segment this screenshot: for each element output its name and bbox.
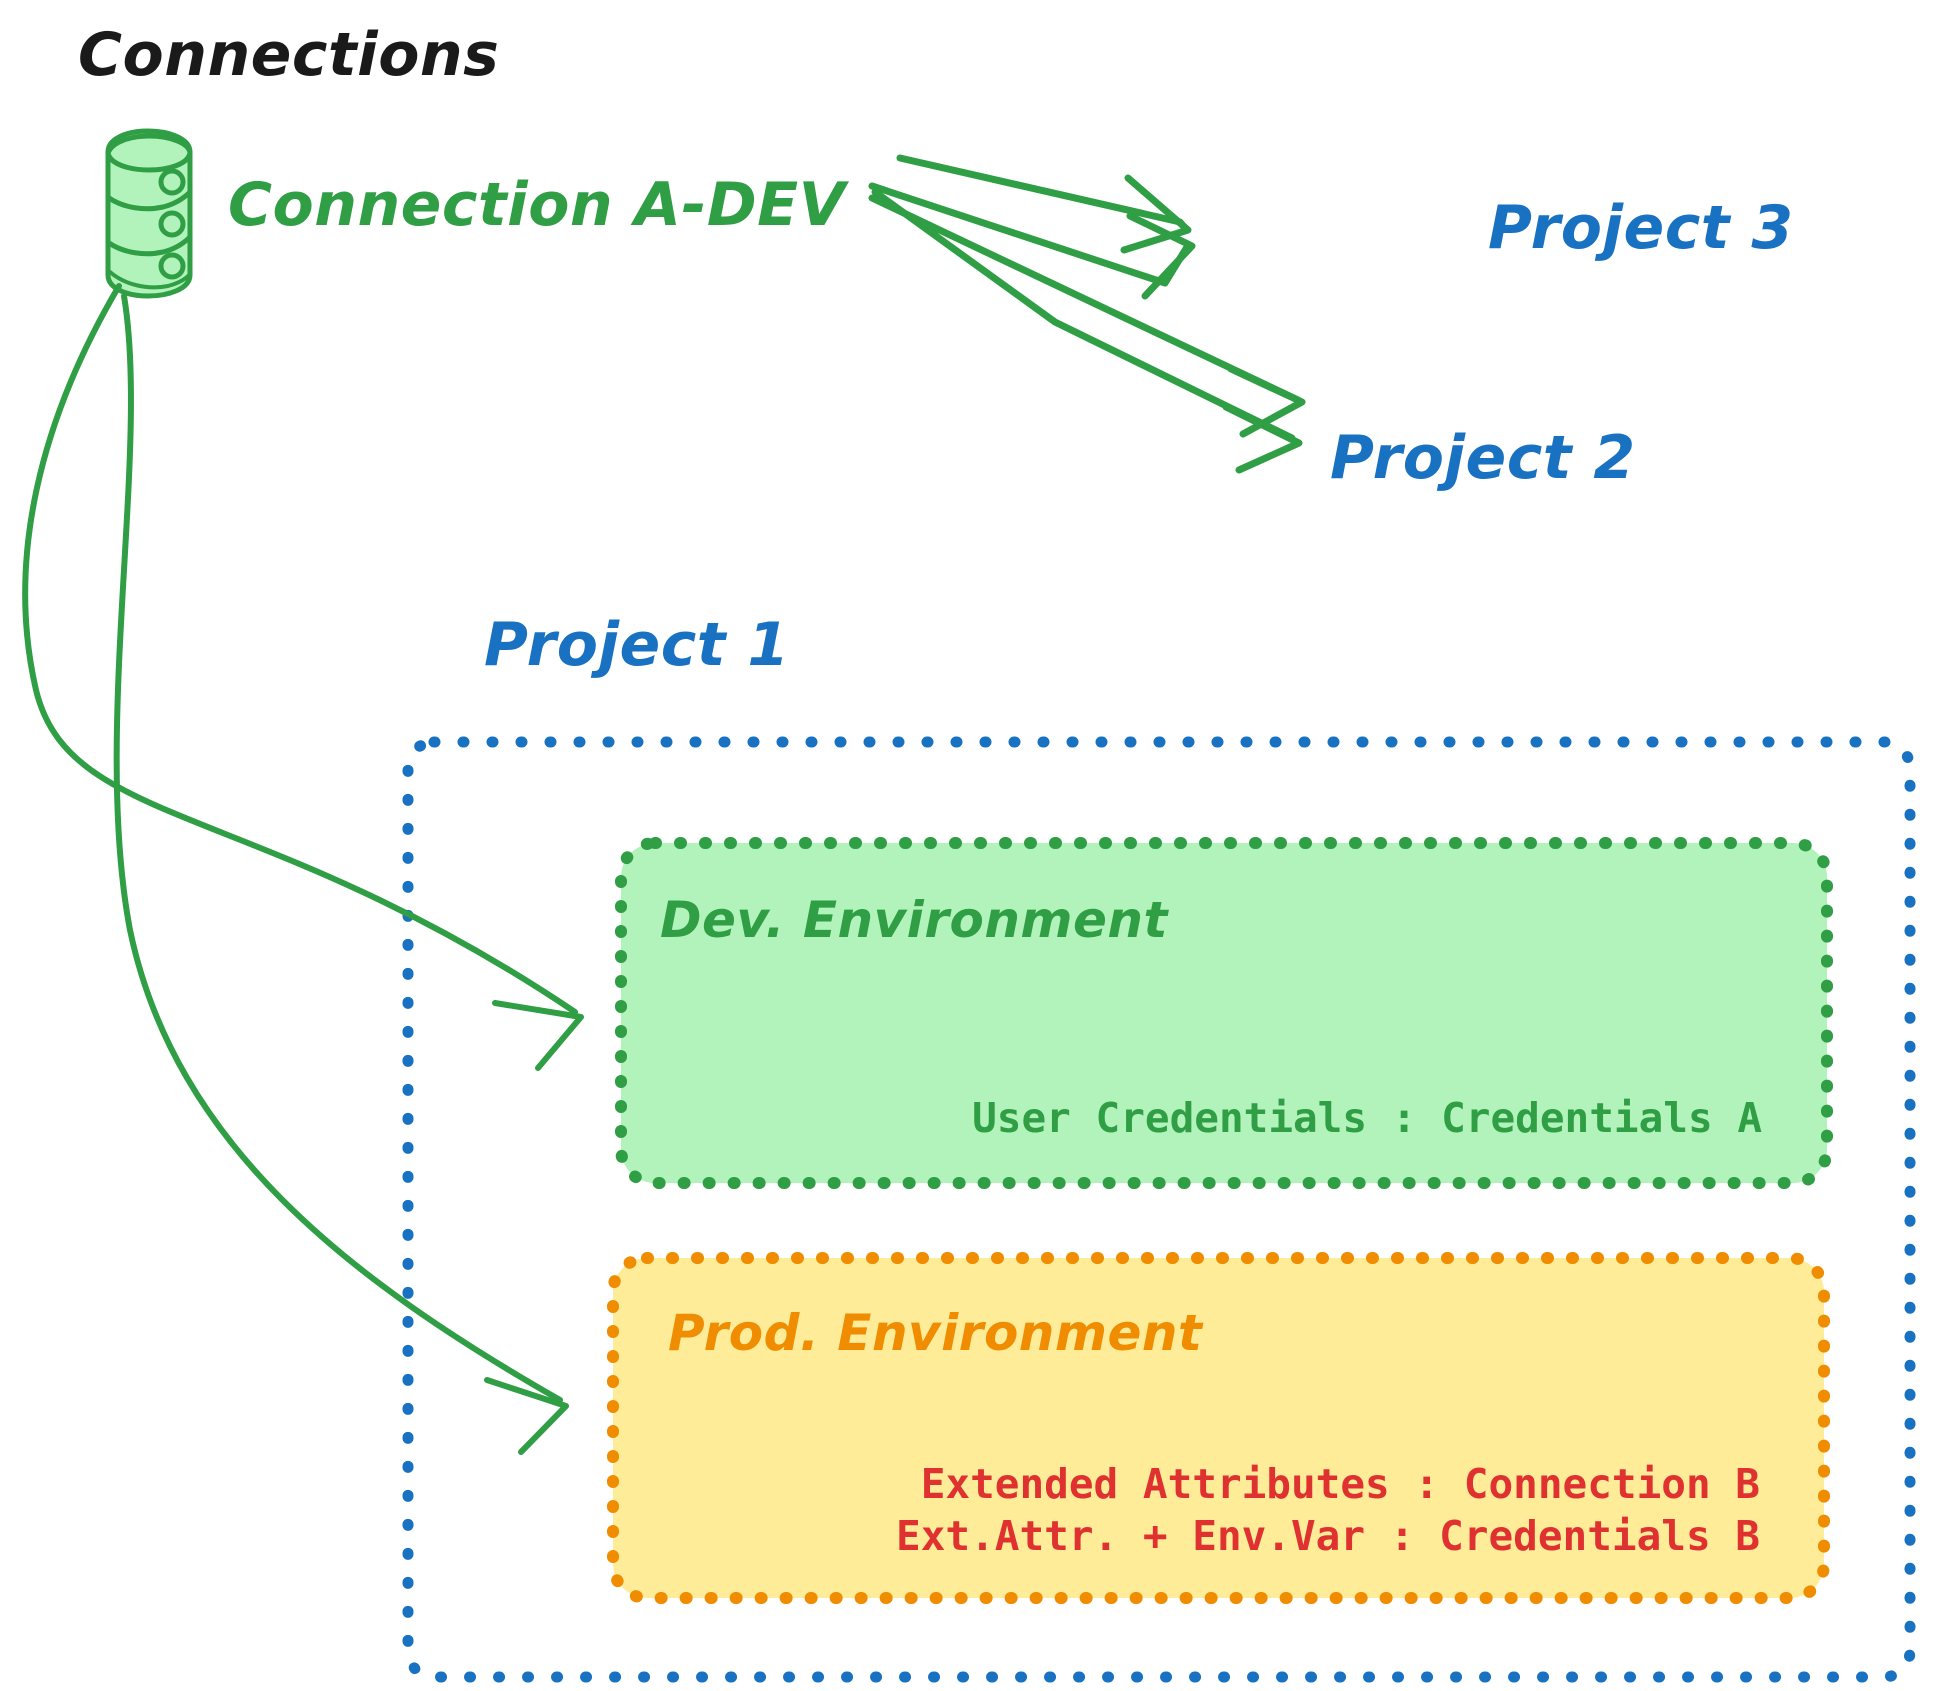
prod-environment-row-0: Extended Attributes : Connection B [921, 1460, 1760, 1508]
project-1-label: Project 1 [484, 610, 790, 680]
diagram-canvas: Connections Connection A-DEV Project 3 P… [0, 0, 1938, 1691]
prod-environment-label: Prod. Environment [668, 1304, 1204, 1362]
diagram-text-layer: Connections Connection A-DEV Project 3 P… [0, 0, 1938, 1691]
project-3-label: Project 3 [1488, 193, 1794, 263]
diagram-title: Connections [78, 20, 499, 90]
dev-environment-row-0: User Credentials : Credentials A [972, 1094, 1762, 1142]
project-2-label: Project 2 [1330, 423, 1636, 493]
dev-environment-label: Dev. Environment [660, 891, 1170, 949]
prod-environment-row-1: Ext.Attr. + Env.Var : Credentials B [896, 1512, 1760, 1560]
connection-label: Connection A-DEV [228, 170, 850, 240]
